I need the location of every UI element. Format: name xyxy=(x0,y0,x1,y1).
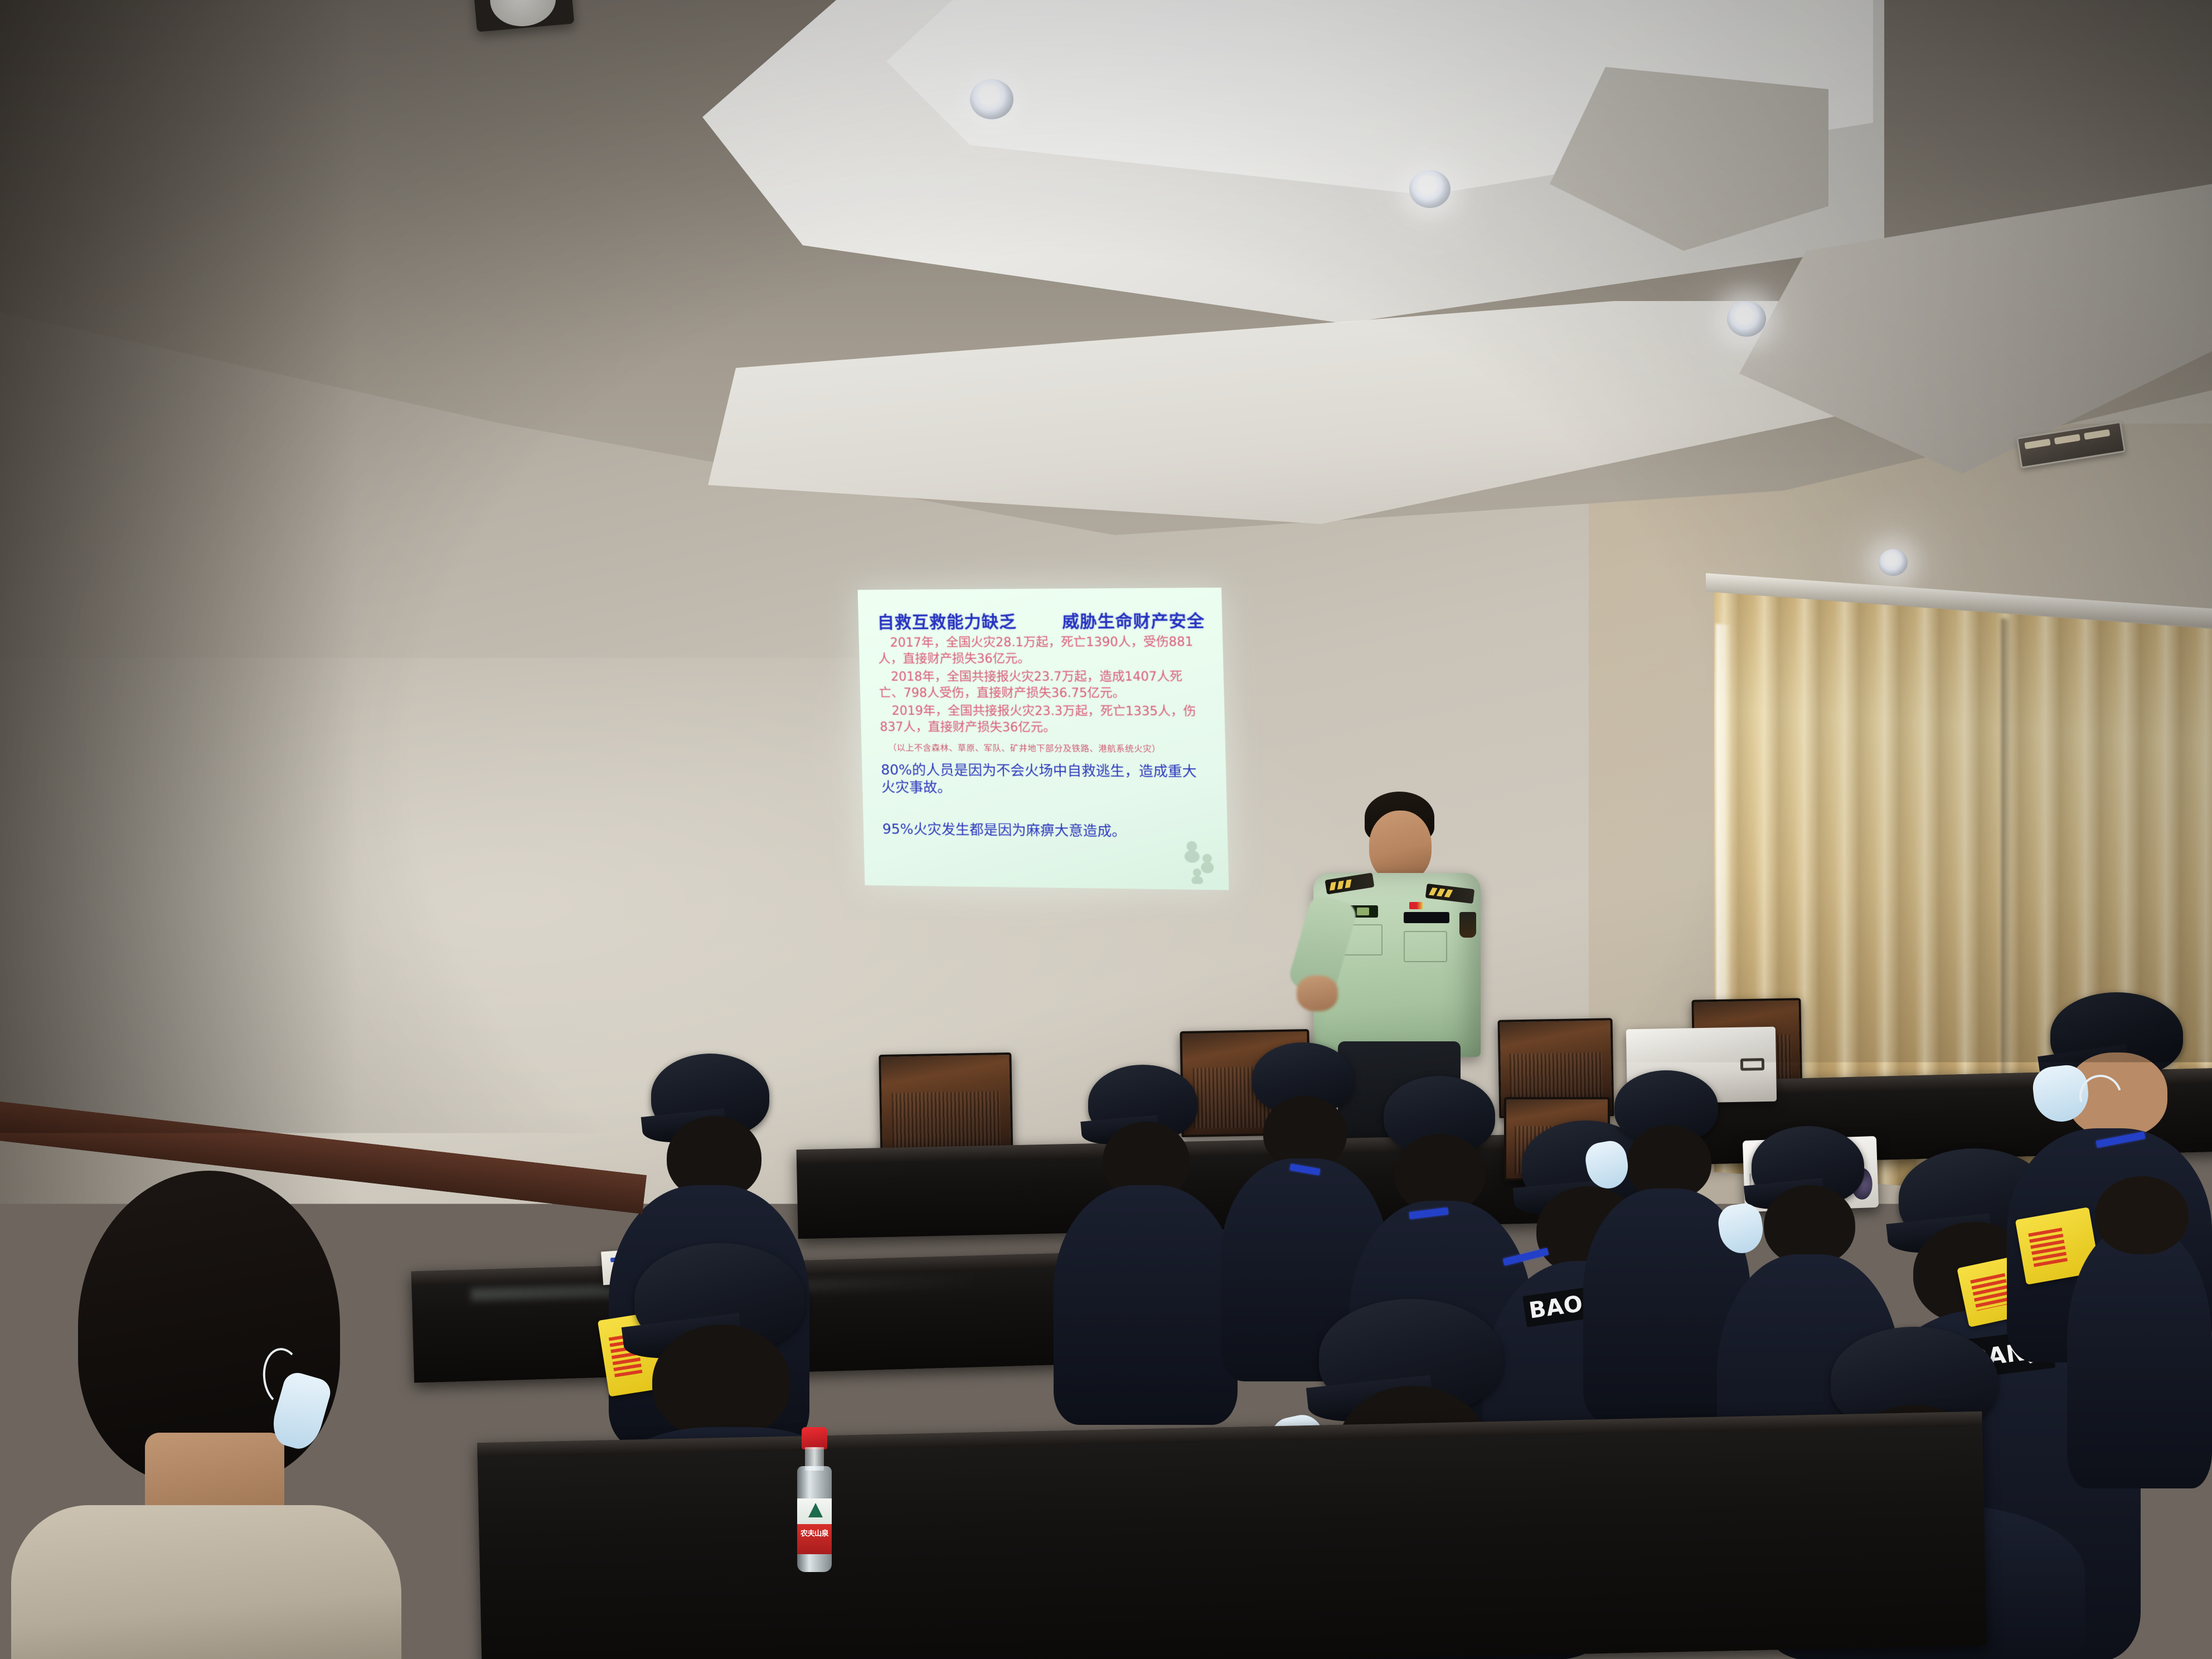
audience-body xyxy=(1054,1185,1238,1425)
slide-watermark-icon xyxy=(1179,840,1221,885)
presenter-collar-patch-emblem xyxy=(1357,908,1369,915)
audience-head xyxy=(2095,1176,2189,1254)
audience-head xyxy=(1764,1185,1855,1265)
water-bottle[interactable]: 农夫山泉 xyxy=(792,1427,838,1583)
projected-slide: 自救互救能力缺乏 威胁生命财产安全 2017年，全国火灾28.1万起，死亡139… xyxy=(858,588,1229,890)
floor-tile-seam xyxy=(0,1432,747,1502)
slide-title-left: 自救互救能力缺乏 xyxy=(877,608,1017,633)
slide-highlight-95: 95%火灾发生都是因为麻痹大意造成。 xyxy=(882,820,1210,841)
slide-paragraph-2017: 2017年，全国火灾28.1万起，死亡1390人，受伤881人，直接财产损失36… xyxy=(877,634,1206,667)
bottle-brand-text: 农夫山泉 xyxy=(797,1527,832,1538)
slide-footnote: （以上不含森林、草原、军队、矿井地下部分及铁路、港航系统火灾） xyxy=(888,741,1208,755)
bottle-cap xyxy=(802,1427,827,1449)
floor-tile-seam xyxy=(135,1282,170,1648)
floor-tile-seam xyxy=(341,1299,375,1659)
presenter-name-tag xyxy=(1404,912,1449,923)
presenter-sleeve-patch xyxy=(1459,912,1476,938)
audience-member-left-2 xyxy=(1054,1065,1238,1422)
classroom-scene: 自救互救能力缺乏 威胁生命财产安全 2017年，全国火灾28.1万起，死亡139… xyxy=(0,0,2212,1659)
floor-tiles xyxy=(0,1265,761,1659)
ceiling-downlight-2 xyxy=(1409,170,1451,208)
audience-lanyard xyxy=(1503,1248,1549,1265)
presenter-pocket-right xyxy=(1404,931,1447,962)
presenter-hand xyxy=(1297,976,1338,1011)
ceiling-downlight-1 xyxy=(970,79,1013,119)
presenter-head xyxy=(1369,811,1432,882)
case-handle xyxy=(1740,1058,1764,1070)
slide-title: 自救互救能力缺乏 威胁生命财产安全 xyxy=(877,607,1205,633)
audience-face-mask xyxy=(1716,1201,1765,1256)
presenter-flag-pin xyxy=(1409,902,1423,909)
audience-body xyxy=(2067,1226,2212,1488)
slide-paragraph-2018: 2018年，全国共接报火灾23.7万起，造成1407人死亡、798人受伤，直接财… xyxy=(879,670,1207,702)
audience-member-right-edge xyxy=(2067,1176,2212,1488)
audience-face-mask xyxy=(1583,1138,1631,1192)
slide-title-right: 威胁生命财产安全 xyxy=(1062,607,1205,633)
slide-paragraph-2019: 2019年，全国共接报火灾23.3万起，死亡1335人，伤837人，直接财产损失… xyxy=(879,704,1207,736)
bottle-mountain-logo-icon xyxy=(808,1503,823,1517)
ceiling-downlight-4 xyxy=(1879,549,1908,576)
slide-highlight-80: 80%的人员是因为不会火场中自救逃生，造成重大火灾事故。 xyxy=(881,761,1209,798)
ceiling-downlight-3 xyxy=(1727,301,1766,337)
